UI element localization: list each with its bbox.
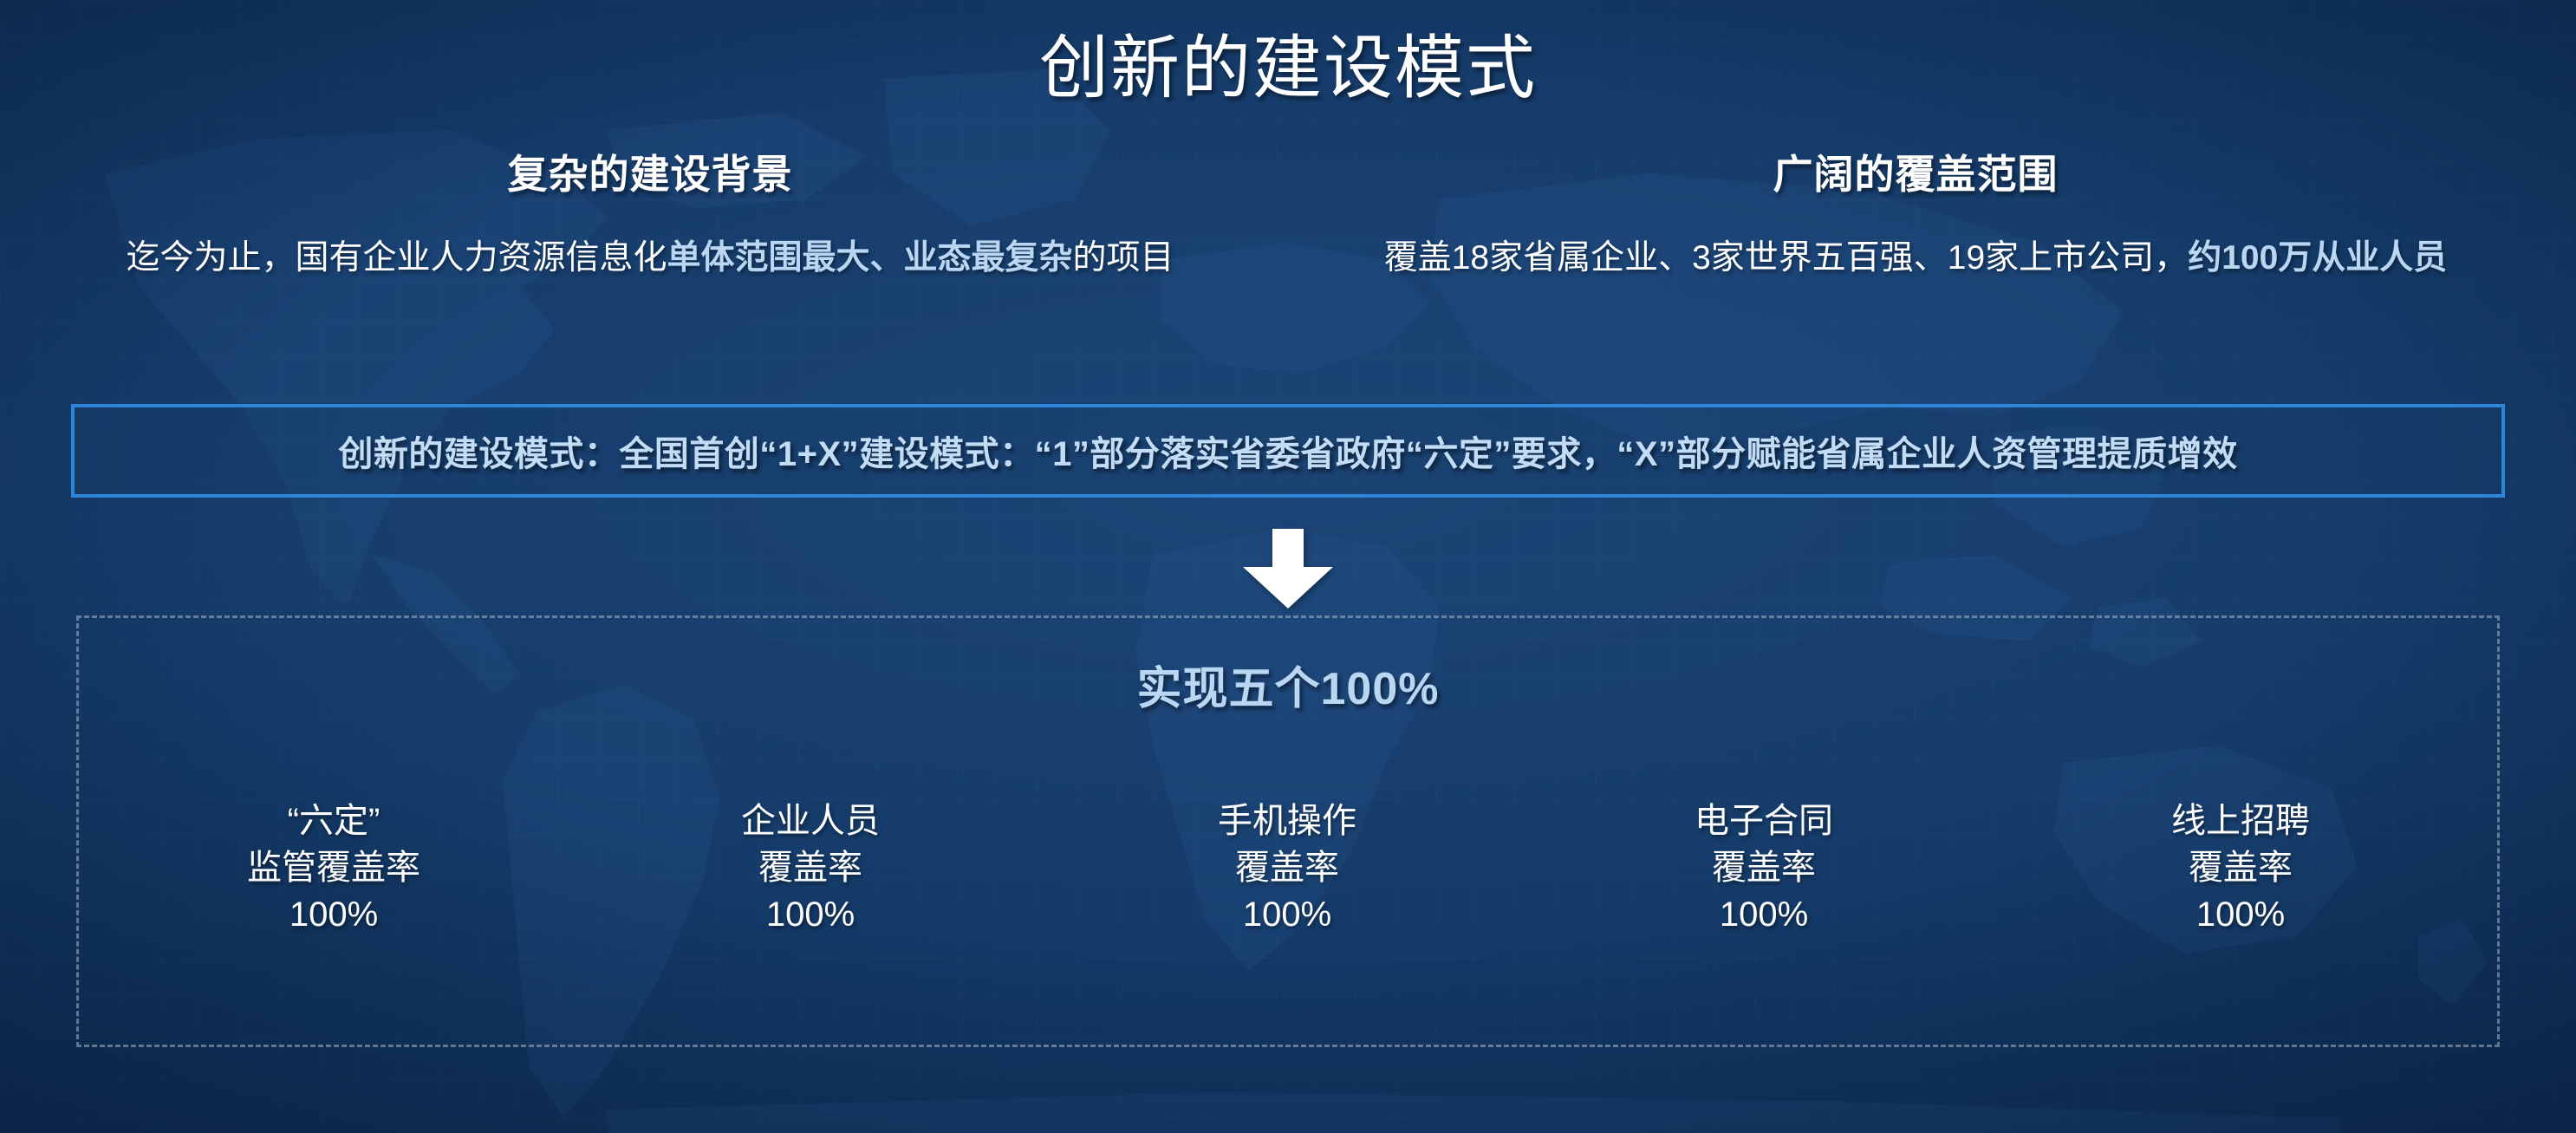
metric-line2: 覆盖率 <box>2002 844 2479 891</box>
metric-item: 线上招聘 覆盖率 100% <box>2002 798 2479 938</box>
section-heading-right: 广阔的覆盖范围 <box>1317 143 2514 200</box>
section-body-left: 迄今为止，国有企业人力资源信息化单体范围最大、业态最复杂的项目 <box>52 236 1248 280</box>
page-title: 创新的建设模式 <box>0 12 2576 113</box>
metric-value: 100% <box>2002 891 2479 938</box>
metric-item: “六定” 监管覆盖率 100% <box>95 798 572 938</box>
metric-line2: 监管覆盖率 <box>95 844 572 891</box>
arrow-down-icon <box>1243 529 1333 609</box>
metric-item: 电子合同 覆盖率 100% <box>1525 798 2002 938</box>
presentation-slide: 创新的建设模式 复杂的建设背景 迄今为止，国有企业人力资源信息化单体范围最大、业… <box>0 0 2576 1133</box>
highlight-banner-text: 创新的建设模式：全国首创“1+X”建设模式：“1”部分落实省委省政府“六定”要求… <box>338 426 2237 476</box>
body-left-suffix: 的项目 <box>1073 239 1174 277</box>
metric-item: 手机操作 覆盖率 100% <box>1049 798 1525 938</box>
metric-line1: “六定” <box>95 798 572 844</box>
metric-line1: 线上招聘 <box>2002 798 2479 844</box>
body-right-highlight: 约100万从业人员 <box>2188 239 2447 277</box>
metric-line2: 覆盖率 <box>1049 844 1525 891</box>
metrics-row: “六定” 监管覆盖率 100% 企业人员 覆盖率 100% 手机操作 覆盖率 1… <box>95 798 2479 938</box>
metric-line1: 电子合同 <box>1525 798 2002 844</box>
section-body-right: 覆盖18家省属企业、3家世界五百强、19家上市公司，约100万从业人员 <box>1317 236 2514 280</box>
metric-line1: 手机操作 <box>1049 798 1525 844</box>
metric-line2: 覆盖率 <box>1525 844 2002 891</box>
metric-item: 企业人员 覆盖率 100% <box>572 798 1049 938</box>
metric-value: 100% <box>95 891 572 938</box>
metric-value: 100% <box>572 891 1049 938</box>
metric-value: 100% <box>1525 891 2002 938</box>
body-left-prefix: 迄今为止，国有企业人力资源信息化 <box>126 239 667 277</box>
metric-line2: 覆盖率 <box>572 844 1049 891</box>
body-left-highlight: 单体范围最大、业态最复杂 <box>667 239 1072 277</box>
metric-value: 100% <box>1049 891 1525 938</box>
highlight-banner: 创新的建设模式：全国首创“1+X”建设模式：“1”部分落实省委省政府“六定”要求… <box>71 404 2505 498</box>
body-right-prefix: 覆盖18家省属企业、3家世界五百强、19家上市公司， <box>1384 239 2188 277</box>
metric-line1: 企业人员 <box>572 798 1049 844</box>
section-heading-left: 复杂的建设背景 <box>52 143 1248 200</box>
results-panel-title: 实现五个100% <box>0 652 2576 717</box>
